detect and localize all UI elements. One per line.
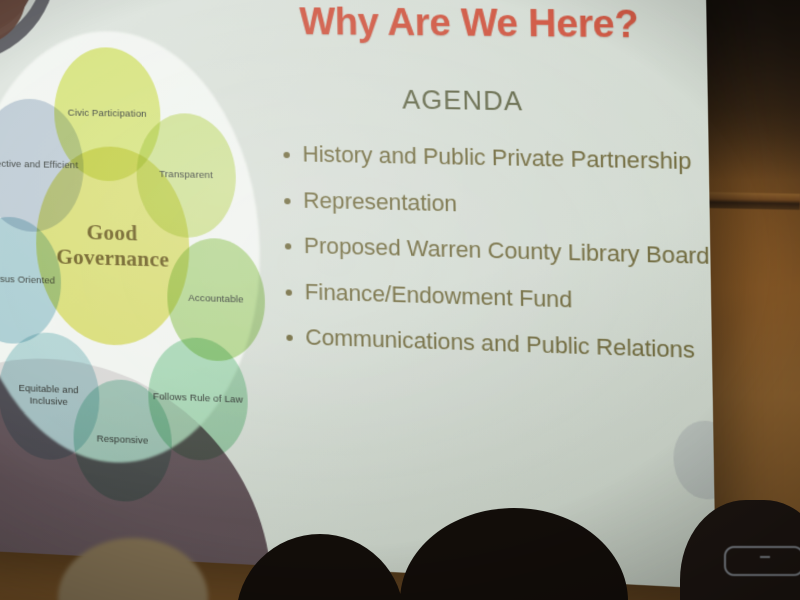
agenda-item: Finance/Endowment Fund [281,279,716,318]
agenda-item: History and Public Private Partnership [279,142,713,176]
venn-label-good-governance: Good Governance [38,219,188,273]
slide-canvas: CLS brary Effective and Efficient Consen… [0,0,716,589]
agenda-bullet-list: History and Public Private Partnership R… [279,142,716,386]
slide-title: Why Are We Here? [254,0,687,47]
projected-slide: CLS brary Effective and Efficient Consen… [0,0,716,589]
venn-label-accountable: Accountable [188,293,244,307]
slide-subtitle-agenda: AGENDA [255,84,677,120]
agenda-item: Communications and Public Relations [282,324,716,364]
venn-label-follows-rule-of-law: Follows Rule of Law [153,391,243,406]
good-governance-venn-diagram: Effective and Efficient Consensus Orient… [0,36,268,467]
agenda-item: Proposed Warren County Library Board [281,233,716,270]
agenda-item: Representation [280,187,715,222]
decor-oval-right [673,419,716,500]
screenshot-root: CLS brary Effective and Efficient Consen… [0,0,800,600]
venn-label-civic-participation: Civic Participation [68,108,147,121]
venn-label-responsive: Responsive [97,434,149,448]
eyeglasses-icon [724,546,800,576]
